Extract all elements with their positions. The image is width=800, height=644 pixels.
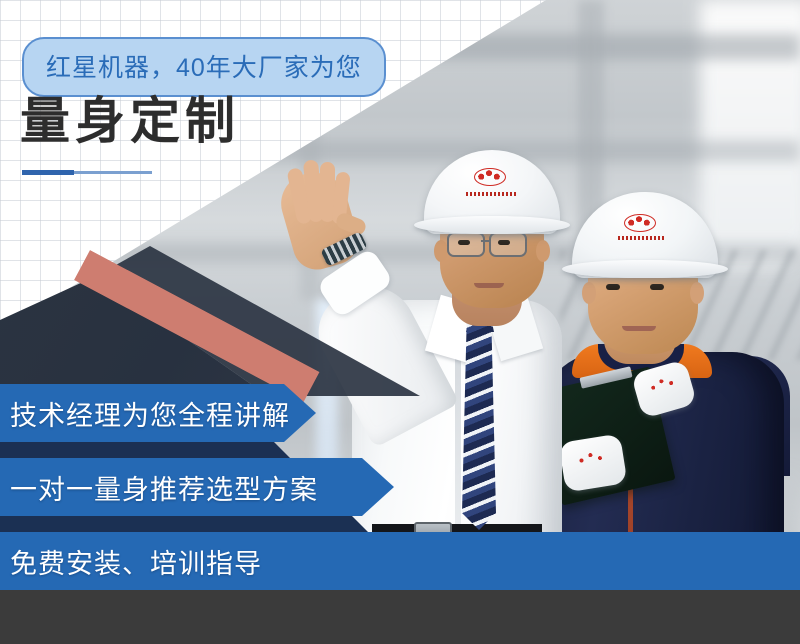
hard-hat-brim bbox=[562, 260, 728, 278]
worker-ear bbox=[690, 282, 704, 304]
helmet-logo-icon bbox=[626, 215, 652, 229]
worker-ear bbox=[582, 282, 596, 304]
chevron-shadow-1 bbox=[0, 442, 290, 458]
feature-chevron-3: 免费安装、培训指导 bbox=[0, 532, 800, 590]
promo-banner: 红星机器，40年大厂家为您 量身定制 技术经理为您全程讲解 一对一量身推荐选型方… bbox=[0, 0, 800, 644]
feature-label: 免费安装、培训指导 bbox=[0, 542, 262, 581]
work-glove bbox=[558, 433, 627, 492]
engineer-mouth bbox=[474, 283, 504, 288]
bottom-dark-band bbox=[0, 600, 800, 644]
glove-grip-dots bbox=[574, 448, 607, 474]
tagline-badge: 红星机器，40年大厂家为您 bbox=[22, 37, 386, 97]
feature-label: 一对一量身推荐选型方案 bbox=[0, 468, 318, 507]
worker-mouth bbox=[622, 326, 656, 331]
chevron-shadow-2 bbox=[0, 516, 368, 532]
necktie bbox=[462, 318, 496, 530]
feature-chevron-2: 一对一量身推荐选型方案 bbox=[0, 458, 394, 516]
worker-eye bbox=[650, 284, 664, 290]
engineer-eye bbox=[458, 240, 470, 245]
eyeglasses-bridge bbox=[481, 240, 489, 242]
helmet-logo-text bbox=[618, 236, 664, 240]
glove-grip-dots bbox=[645, 373, 680, 402]
feature-chevron-1: 技术经理为您全程讲解 bbox=[0, 384, 316, 442]
title-underline-thin bbox=[74, 171, 152, 174]
engineer-ear bbox=[434, 240, 448, 262]
helmet-logo-icon bbox=[476, 169, 502, 183]
title-underline-thick bbox=[22, 170, 74, 175]
helmet-logo-text bbox=[466, 192, 518, 196]
engineer-eye bbox=[498, 240, 510, 245]
feature-label: 技术经理为您全程讲解 bbox=[0, 394, 290, 433]
engineer-ear bbox=[536, 240, 550, 262]
page-title: 量身定制 bbox=[20, 96, 240, 146]
worker-eye bbox=[606, 284, 620, 290]
hard-hat-brim bbox=[414, 216, 570, 234]
